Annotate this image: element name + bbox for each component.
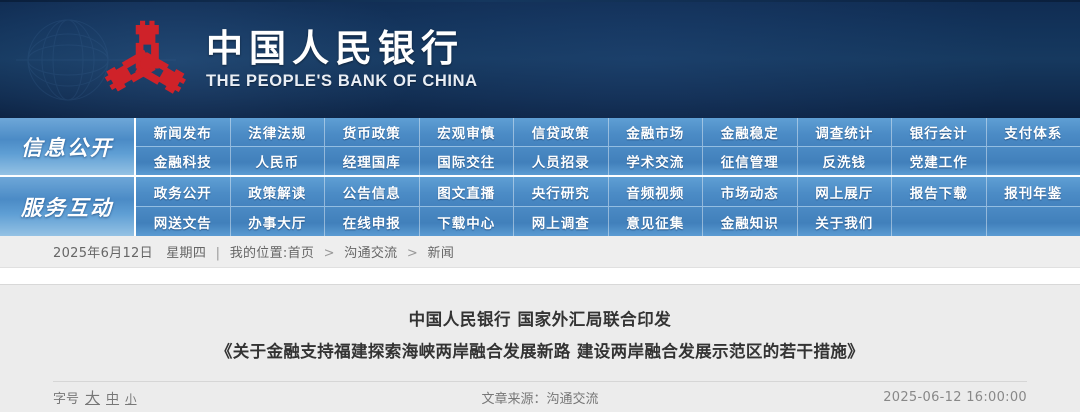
nav-item-download-center[interactable]: 下载中心 <box>420 207 515 236</box>
nav-item-recruitment[interactable]: 人员招录 <box>514 147 609 175</box>
nav-item-announcements[interactable]: 公告信息 <box>325 177 420 206</box>
article-source-value: 沟通交流 <box>547 392 599 407</box>
nav-item-central-bank-research[interactable]: 央行研究 <box>514 177 609 206</box>
nav-item-bank-accounting[interactable]: 银行会计 <box>892 118 987 146</box>
nav-item-treasury-management[interactable]: 经理国库 <box>325 147 420 175</box>
nav-item-fintech[interactable]: 金融科技 <box>136 147 231 175</box>
nav-item-financial-knowledge[interactable]: 金融知识 <box>703 207 798 236</box>
breadcrumb-link-news[interactable]: 新闻 <box>428 246 455 261</box>
nav-item-news-release[interactable]: 新闻发布 <box>136 118 231 146</box>
header-top-line <box>0 0 1080 2</box>
nav-group-information-disclosure: 信息公开 新闻发布 法律法规 货币政策 宏观审慎 信贷政策 金融市场 金融稳定 … <box>0 118 1080 177</box>
nav-item-rmb[interactable]: 人民币 <box>231 147 326 175</box>
nav-item-financial-stability[interactable]: 金融稳定 <box>703 118 798 146</box>
nav-item-online-exhibition[interactable]: 网上展厅 <box>798 177 893 206</box>
nav-item-about-us[interactable]: 关于我们 <box>798 207 893 236</box>
nav-item-audio-video[interactable]: 音频视频 <box>609 177 704 206</box>
breadcrumb: 2025年6月12日 星期四 | 我的位置:首页 > 沟通交流 > 新闻 <box>53 242 454 261</box>
article-title-block: 中国人民银行 国家外汇局联合印发 《关于金融支持福建探索海峡两岸融合发展新路 建… <box>53 285 1027 365</box>
breadcrumb-separator: > <box>407 246 418 261</box>
content-spacer <box>0 268 1080 284</box>
article-publish-time: 2025-06-12 16:00:00 <box>883 390 1027 405</box>
nav-item-academic-exchange[interactable]: 学术交流 <box>609 147 704 175</box>
site-wordmark: 中国人民银行 THE PEOPLE'S BANK OF CHINA <box>206 29 478 92</box>
nav-group-service-interaction: 服务互动 政务公开 政策解读 公告信息 图文直播 央行研究 音频视频 市场动态 … <box>0 177 1080 236</box>
nav-item-international[interactable]: 国际交往 <box>420 147 515 175</box>
nav-item-live-broadcast[interactable]: 图文直播 <box>420 177 515 206</box>
breadcrumb-link-communication[interactable]: 沟通交流 <box>344 246 397 261</box>
site-logo[interactable]: 中国人民银行 THE PEOPLE'S BANK OF CHINA <box>102 19 478 101</box>
site-header-banner: 中国人民银行 THE PEOPLE'S BANK OF CHINA <box>0 0 1080 118</box>
nav-item-government-affairs[interactable]: 政务公开 <box>136 177 231 206</box>
article-header-section: 中国人民银行 国家外汇局联合印发 《关于金融支持福建探索海峡两岸融合发展新路 建… <box>0 284 1080 412</box>
nav-item-survey-statistics[interactable]: 调查统计 <box>798 118 893 146</box>
nav-item-policy-interpretation[interactable]: 政策解读 <box>231 177 326 206</box>
breadcrumb-weekday: 星期四 <box>166 246 206 261</box>
nav-row: 网送文告 办事大厅 在线申报 下载中心 网上调查 意见征集 金融知识 关于我们 <box>136 206 1080 236</box>
nav-item-feedback-collection[interactable]: 意见征集 <box>609 207 704 236</box>
breadcrumb-bar: 2025年6月12日 星期四 | 我的位置:首页 > 沟通交流 > 新闻 <box>0 236 1080 268</box>
article-source: 文章来源：沟通交流 <box>481 388 598 407</box>
font-size-control: 字号 大 中 小 <box>53 387 137 408</box>
article-meta-bar: 字号 大 中 小 文章来源：沟通交流 2025-06-12 16:00:00 <box>53 381 1027 412</box>
nav-item-credit-policy[interactable]: 信贷政策 <box>514 118 609 146</box>
font-size-label: 字号 <box>53 388 79 407</box>
nav-item-payment-system[interactable]: 支付体系 <box>987 118 1080 146</box>
bank-name-chinese: 中国人民银行 <box>206 29 478 69</box>
nav-item-macro-prudential[interactable]: 宏观审慎 <box>420 118 515 146</box>
nav-rows-information-disclosure: 新闻发布 法律法规 货币政策 宏观审慎 信贷政策 金融市场 金融稳定 调查统计 … <box>136 118 1080 175</box>
article-source-label: 文章来源： <box>481 392 546 407</box>
nav-item-online-documents[interactable]: 网送文告 <box>136 207 231 236</box>
nav-item-anti-money-laundering[interactable]: 反洗钱 <box>798 147 893 175</box>
nav-item-online-survey[interactable]: 网上调查 <box>514 207 609 236</box>
nav-item-empty <box>987 147 1080 175</box>
nav-group-label-information-disclosure[interactable]: 信息公开 <box>0 118 136 175</box>
nav-row: 新闻发布 法律法规 货币政策 宏观审慎 信贷政策 金融市场 金融稳定 调查统计 … <box>136 118 1080 146</box>
nav-item-service-hall[interactable]: 办事大厅 <box>231 207 326 236</box>
font-size-small-link[interactable]: 小 <box>125 391 137 407</box>
nav-item-financial-market[interactable]: 金融市场 <box>609 118 704 146</box>
breadcrumb-location-label: 我的位置: <box>230 246 288 261</box>
nav-item-periodical-yearbook[interactable]: 报刊年鉴 <box>987 177 1080 206</box>
nav-item-empty <box>892 207 987 236</box>
nav-item-empty <box>987 207 1080 236</box>
nav-item-party-building[interactable]: 党建工作 <box>892 147 987 175</box>
font-size-medium-link[interactable]: 中 <box>106 388 119 407</box>
nav-rows-service-interaction: 政务公开 政策解读 公告信息 图文直播 央行研究 音频视频 市场动态 网上展厅 … <box>136 177 1080 236</box>
nav-row: 政务公开 政策解读 公告信息 图文直播 央行研究 音频视频 市场动态 网上展厅 … <box>136 177 1080 206</box>
bank-name-english: THE PEOPLE'S BANK OF CHINA <box>206 72 478 91</box>
nav-row: 金融科技 人民币 经理国库 国际交往 人员招录 学术交流 征信管理 反洗钱 党建… <box>136 146 1080 175</box>
main-navigation: 信息公开 新闻发布 法律法规 货币政策 宏观审慎 信贷政策 金融市场 金融稳定 … <box>0 118 1080 236</box>
breadcrumb-link-home[interactable]: 首页 <box>288 246 315 261</box>
nav-item-market-dynamics[interactable]: 市场动态 <box>703 177 798 206</box>
breadcrumb-date: 2025年6月12日 <box>53 246 153 261</box>
pboc-emblem-icon <box>102 19 190 101</box>
article-title-line-1: 中国人民银行 国家外汇局联合印发 <box>53 308 1027 333</box>
breadcrumb-divider: | <box>216 246 221 261</box>
nav-item-credit-reporting[interactable]: 征信管理 <box>703 147 798 175</box>
nav-group-label-service-interaction[interactable]: 服务互动 <box>0 177 136 236</box>
nav-item-monetary-policy[interactable]: 货币政策 <box>325 118 420 146</box>
nav-item-laws-regulations[interactable]: 法律法规 <box>231 118 326 146</box>
article-title-line-2: 《关于金融支持福建探索海峡两岸融合发展新路 建设两岸融合发展示范区的若干措施》 <box>53 340 1027 365</box>
font-size-large-link[interactable]: 大 <box>85 387 100 408</box>
breadcrumb-separator: > <box>324 246 335 261</box>
nav-item-report-download[interactable]: 报告下载 <box>892 177 987 206</box>
nav-item-online-declaration[interactable]: 在线申报 <box>325 207 420 236</box>
